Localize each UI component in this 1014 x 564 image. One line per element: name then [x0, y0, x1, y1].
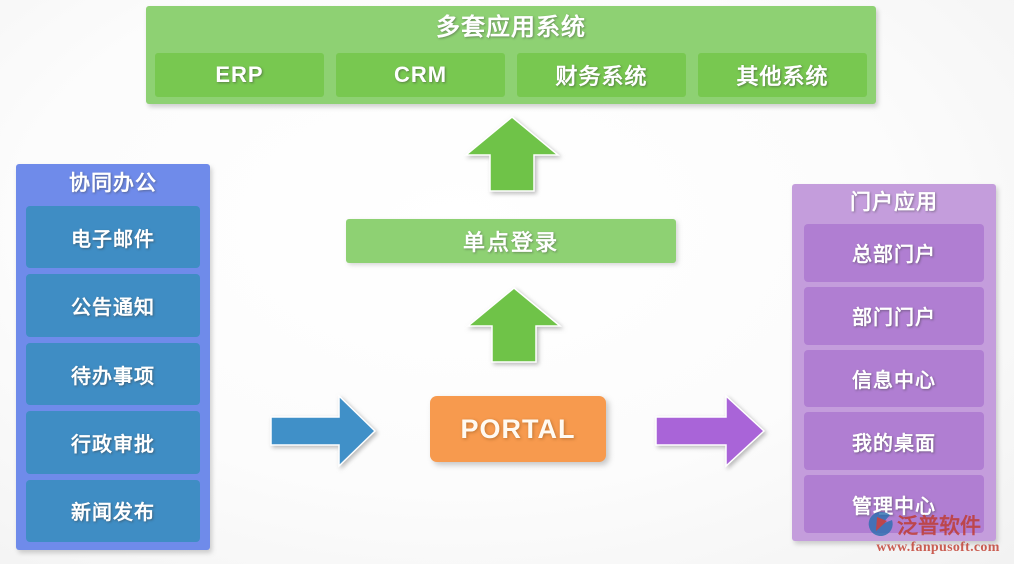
arrow-up-to-sso-icon: [466, 286, 562, 364]
app-cell-other[interactable]: 其他系统: [697, 52, 868, 98]
panel-collaborative-office: 协同办公 电子邮件 公告通知 待办事项 行政审批 新闻发布: [16, 164, 210, 550]
office-cell-news[interactable]: 新闻发布: [26, 480, 200, 542]
panel-portal-applications-title: 门户应用: [792, 184, 996, 222]
panel-applications-title: 多套应用系统: [146, 6, 876, 50]
office-cell-todo[interactable]: 待办事项: [26, 343, 200, 405]
portal-cell-my-desktop[interactable]: 我的桌面: [804, 412, 984, 470]
panel-portal-applications-cells: 总部门户 部门门户 信息中心 我的桌面 管理中心: [804, 224, 984, 533]
arrow-right-to-portal-apps-icon: [654, 394, 766, 468]
watermark-brand-name: 泛普软件: [897, 514, 981, 538]
panel-portal-applications: 门户应用 总部门户 部门门户 信息中心 我的桌面 管理中心: [792, 184, 996, 541]
diagram-canvas: 多套应用系统 ERP CRM 财务系统 其他系统 单点登录 协同办公 电子邮件 …: [0, 0, 1014, 564]
portal-cell-department[interactable]: 部门门户: [804, 287, 984, 345]
panel-collaborative-office-cells: 电子邮件 公告通知 待办事项 行政审批 新闻发布: [26, 206, 200, 542]
sso-box[interactable]: 单点登录: [346, 219, 676, 263]
office-cell-approval[interactable]: 行政审批: [26, 411, 200, 473]
portal-box[interactable]: PORTAL: [430, 396, 606, 462]
panel-applications-cells: ERP CRM 财务系统 其他系统: [154, 52, 868, 98]
office-cell-announcement[interactable]: 公告通知: [26, 274, 200, 336]
app-cell-finance[interactable]: 财务系统: [516, 52, 687, 98]
app-cell-erp[interactable]: ERP: [154, 52, 325, 98]
watermark: 泛普软件 www.fanpusoft.com: [868, 512, 1008, 560]
portal-cell-headquarters[interactable]: 总部门户: [804, 224, 984, 282]
fanpu-logo-icon: [868, 511, 894, 542]
watermark-url: www.fanpusoft.com: [868, 540, 1008, 556]
arrow-up-to-apps-icon: [464, 115, 560, 193]
app-cell-crm[interactable]: CRM: [335, 52, 506, 98]
watermark-brand-row: 泛普软件: [868, 512, 1008, 540]
office-cell-email[interactable]: 电子邮件: [26, 206, 200, 268]
arrow-right-from-office-icon: [269, 394, 377, 468]
portal-cell-info-center[interactable]: 信息中心: [804, 350, 984, 408]
panel-collaborative-office-title: 协同办公: [16, 164, 210, 204]
panel-applications: 多套应用系统 ERP CRM 财务系统 其他系统: [146, 6, 876, 104]
